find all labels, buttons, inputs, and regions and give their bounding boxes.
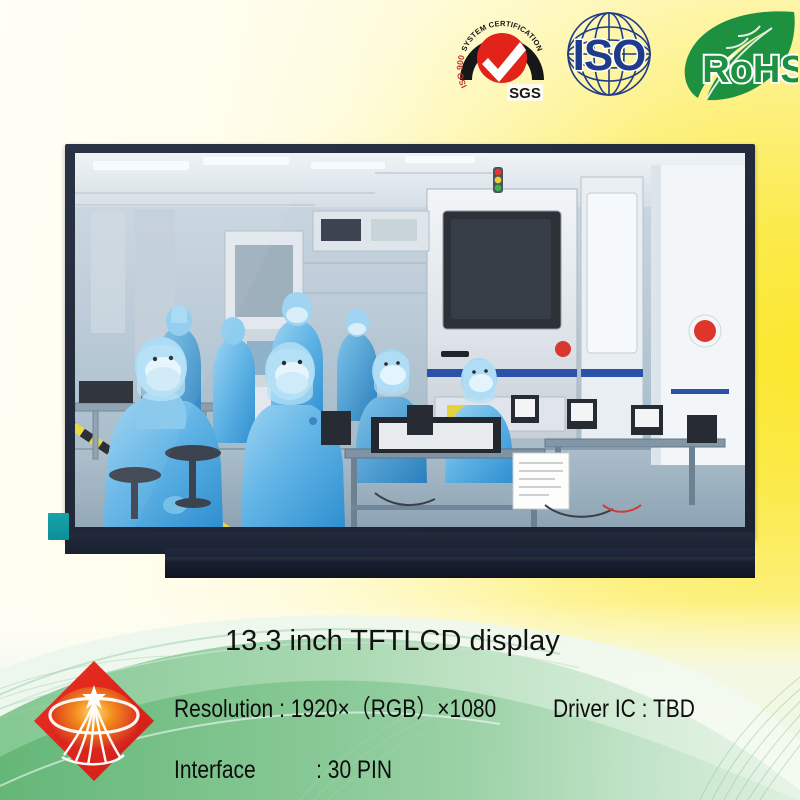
spec-resolution-label: Resolution bbox=[174, 697, 273, 722]
spec-driver-ic-value: TBD bbox=[653, 695, 695, 723]
spec-interface-separator: : bbox=[316, 756, 322, 784]
svg-text:SGS: SGS bbox=[509, 85, 541, 102]
panel-flex-connector bbox=[48, 513, 69, 540]
lcd-panel bbox=[65, 144, 755, 574]
spec-driver-ic-separator: : bbox=[642, 695, 648, 723]
spec-interface-value: 30 PIN bbox=[328, 756, 392, 784]
panel-screen bbox=[75, 153, 745, 527]
panel-driver-board-tab bbox=[165, 548, 755, 578]
spec-interface-label: Interface bbox=[174, 758, 256, 783]
product-title: 13.3 inch TFTLCD display bbox=[225, 627, 560, 656]
spec-resolution-separator: : bbox=[279, 695, 285, 723]
spec-resolution-value: 1920×（RGB）×1080 bbox=[291, 695, 496, 723]
iso-certification-icon: ISO bbox=[557, 8, 661, 104]
spec-resolution: Resolution : 1920×（RGB）×1080 bbox=[174, 697, 496, 722]
company-logo bbox=[28, 655, 160, 787]
certification-logos: SYSTEM CERTIFICATION ISO 9001: 2000 SGS bbox=[444, 2, 800, 110]
svg-text:RoHS: RoHS bbox=[702, 49, 798, 91]
product-image-canvas: SYSTEM CERTIFICATION ISO 9001: 2000 SGS bbox=[0, 0, 800, 800]
spec-driver-ic: Driver IC : TBD bbox=[553, 697, 695, 722]
spec-driver-ic-label: Driver IC bbox=[553, 697, 636, 722]
svg-text:ISO: ISO bbox=[573, 31, 646, 80]
rohs-certification-icon: RoHS bbox=[676, 6, 798, 106]
sgs-iso9001-certification-icon: SYSTEM CERTIFICATION ISO 9001: 2000 SGS bbox=[452, 6, 552, 106]
spec-interface: Interface : 30 PIN bbox=[174, 758, 392, 783]
